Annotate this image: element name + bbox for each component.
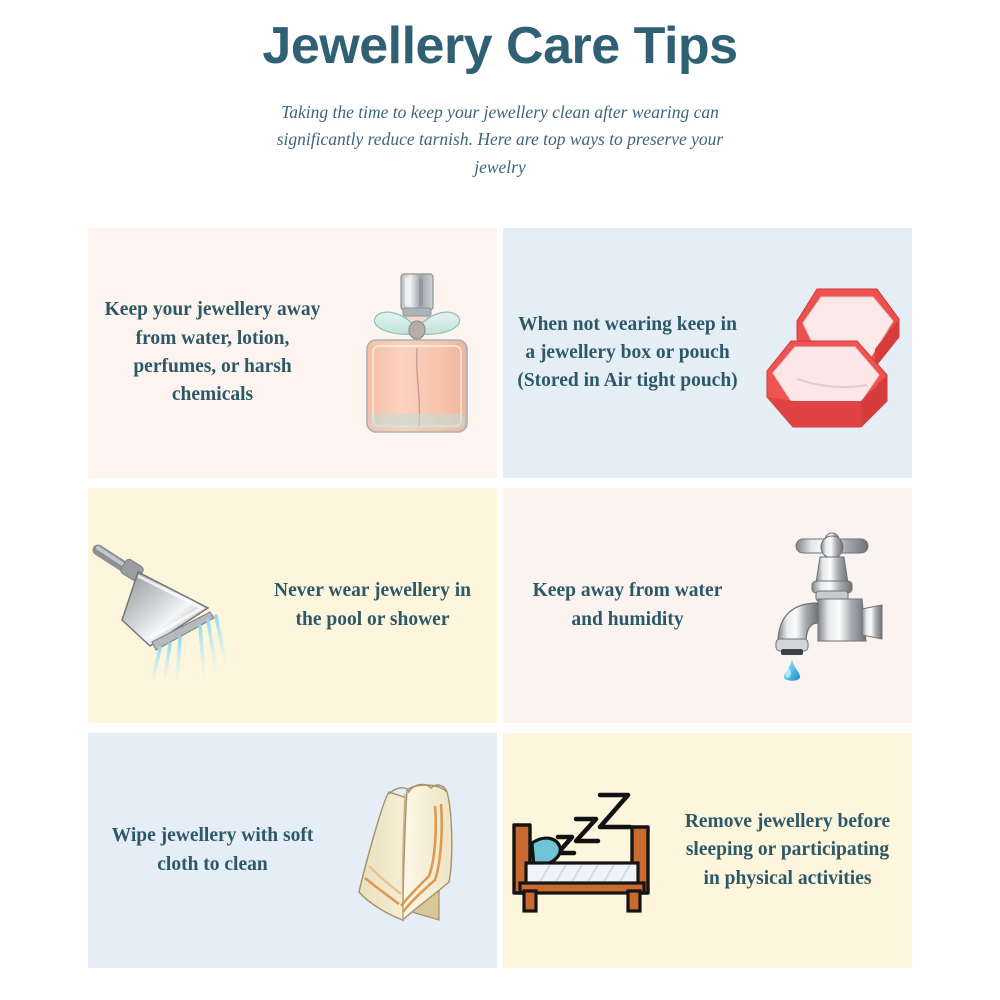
sleeping-bed-icon (503, 733, 663, 968)
tip-card-shower: Never wear jewellery in the pool or show… (88, 488, 497, 723)
tip-card-text: When not wearing keep in a jewellery box… (503, 311, 752, 396)
shower-head-icon (88, 488, 248, 723)
perfume-bottle-icon (337, 228, 497, 478)
tips-grid: Keep your jewellery away from water, lot… (88, 228, 912, 968)
tip-card-text: Remove jewellery before sleeping or part… (663, 808, 912, 893)
tip-card-text: Never wear jewellery in the pool or show… (248, 577, 497, 634)
jewellery-box-icon (752, 228, 912, 478)
tip-card-faucet: Keep away from water and humidity (503, 488, 912, 723)
water-faucet-icon (752, 488, 912, 723)
cleaning-cloth-icon (337, 733, 497, 968)
header: Jewellery Care Tips Taking the time to k… (0, 0, 1000, 181)
tip-card-perfume: Keep your jewellery away from water, lot… (88, 228, 497, 478)
page-title: Jewellery Care Tips (0, 16, 1000, 77)
page-subtitle: Taking the time to keep your jewellery c… (275, 99, 725, 180)
infographic-page: Jewellery Care Tips Taking the time to k… (0, 0, 1000, 1000)
tip-card-jewellery-box: When not wearing keep in a jewellery box… (503, 228, 912, 478)
tip-card-cloth: Wipe jewellery with soft cloth to clean (88, 733, 497, 968)
tip-card-text: Wipe jewellery with soft cloth to clean (88, 822, 337, 879)
tip-card-text: Keep away from water and humidity (503, 577, 752, 634)
tip-card-bed: Remove jewellery before sleeping or part… (503, 733, 912, 968)
tip-card-text: Keep your jewellery away from water, lot… (88, 296, 337, 409)
